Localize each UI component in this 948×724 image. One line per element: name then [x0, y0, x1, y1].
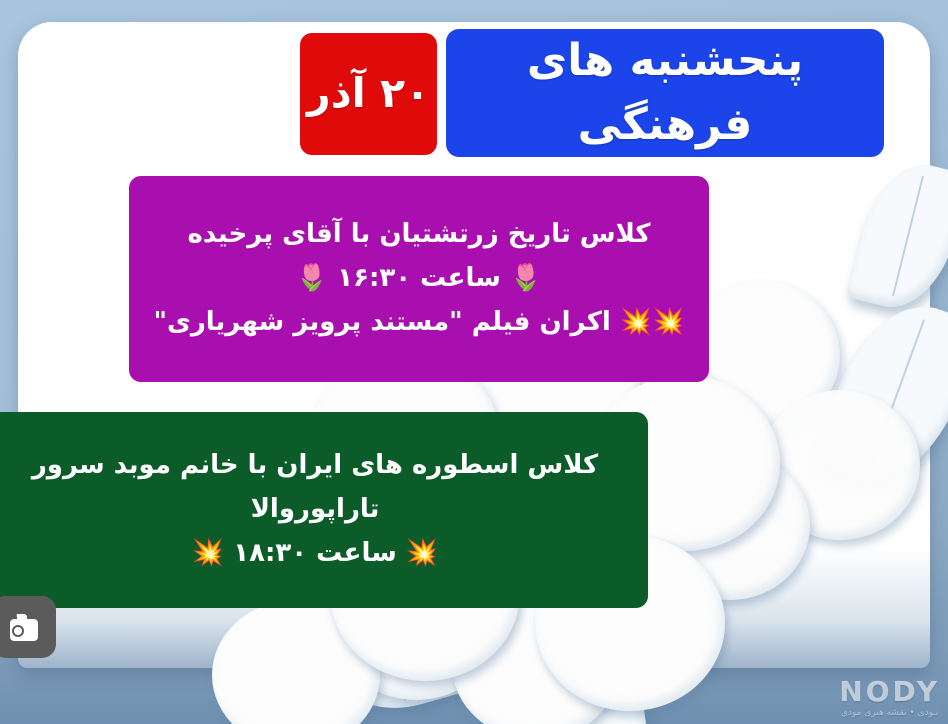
header-date-badge: ۲۰ آذر — [300, 33, 437, 155]
watermark-subtitle: نـودی • نقشه هنری مودی — [839, 708, 940, 718]
camera-app-badge[interactable] — [0, 596, 56, 658]
watermark-brand: NODY — [839, 678, 940, 706]
paper-leaf-icon — [493, 639, 648, 724]
poster-canvas: ۲۰ آذر پنحشنبه های فرهنگی کلاس تاریخ زرت… — [0, 0, 948, 724]
camera-icon — [4, 609, 44, 645]
watermark: NODY نـودی • نقشه هنری مودی — [839, 678, 940, 718]
event-card-iran-myths: کلاس اسطوره های ایران با خانم موبد سرور … — [0, 412, 648, 608]
paper-leaf-icon — [809, 285, 948, 502]
page-title: پنحشنبه های فرهنگی — [446, 29, 884, 157]
event-line: کلاس تاریخ زرتشتیان با آقای پرخیده — [145, 216, 693, 254]
paper-leaf-icon — [845, 153, 948, 319]
paper-leaf-icon — [319, 596, 469, 724]
event-line: 💥💥 اکران فیلم "مستند پرویز شهریاری" — [145, 304, 693, 342]
event-line: 💥 ساعت ۱۸:۳۰ 💥 — [8, 535, 622, 573]
event-card-zoroastrian-history: کلاس تاریخ زرتشتیان با آقای پرخیده 🌷 ساع… — [129, 176, 709, 382]
event-line: 🌷 ساعت ۱۶:۳۰ 🌷 — [145, 260, 693, 298]
event-line: تاراپوروالا — [8, 491, 622, 529]
event-line: کلاس اسطوره های ایران با خانم موبد سرور — [8, 447, 622, 485]
